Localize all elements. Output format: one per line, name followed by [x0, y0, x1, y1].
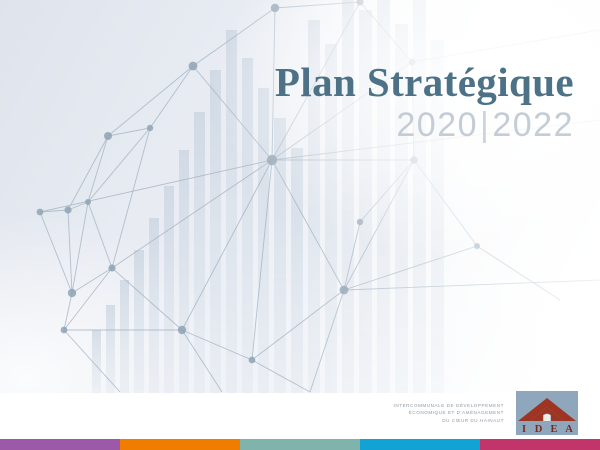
footer: INTERCOMMUNALE DE DÉVELOPPEMENT ÉCONOMIQ…	[0, 382, 600, 439]
cover-page: Plan Stratégique 2020|2022 INTERCOMMUNAL…	[0, 0, 600, 450]
idea-logo: I D E A	[516, 391, 578, 435]
color-segment-orange	[120, 439, 240, 450]
year-separator: |	[478, 106, 492, 144]
idea-logo-graphic: I D E A	[516, 391, 578, 435]
color-segment-teal	[240, 439, 360, 450]
organisation-line-3: DU CŒUR DU HAINAUT	[394, 417, 504, 424]
page-title: Plan Stratégique	[275, 62, 574, 104]
title-block: Plan Stratégique 2020|2022	[275, 62, 574, 144]
subtitle-years: 2020|2022	[275, 108, 574, 144]
organisation-line-2: ÉCONOMIQUE ET D'AMÉNAGEMENT	[394, 409, 504, 416]
color-segment-blue	[360, 439, 480, 450]
color-segment-crimson	[480, 439, 600, 450]
svg-text:D: D	[535, 424, 543, 435]
color-segment-purple	[0, 439, 120, 450]
organisation-line-1: INTERCOMMUNALE DE DÉVELOPPEMENT	[394, 402, 504, 409]
svg-text:A: A	[565, 424, 573, 435]
footer-inner: INTERCOMMUNALE DE DÉVELOPPEMENT ÉCONOMIQ…	[394, 391, 578, 435]
svg-text:I: I	[522, 424, 526, 435]
year-end: 2022	[492, 106, 574, 144]
bottom-color-bar	[0, 439, 600, 450]
year-start: 2020	[396, 106, 478, 144]
organisation-name: INTERCOMMUNALE DE DÉVELOPPEMENT ÉCONOMIQ…	[394, 402, 504, 423]
svg-text:E: E	[550, 424, 557, 435]
